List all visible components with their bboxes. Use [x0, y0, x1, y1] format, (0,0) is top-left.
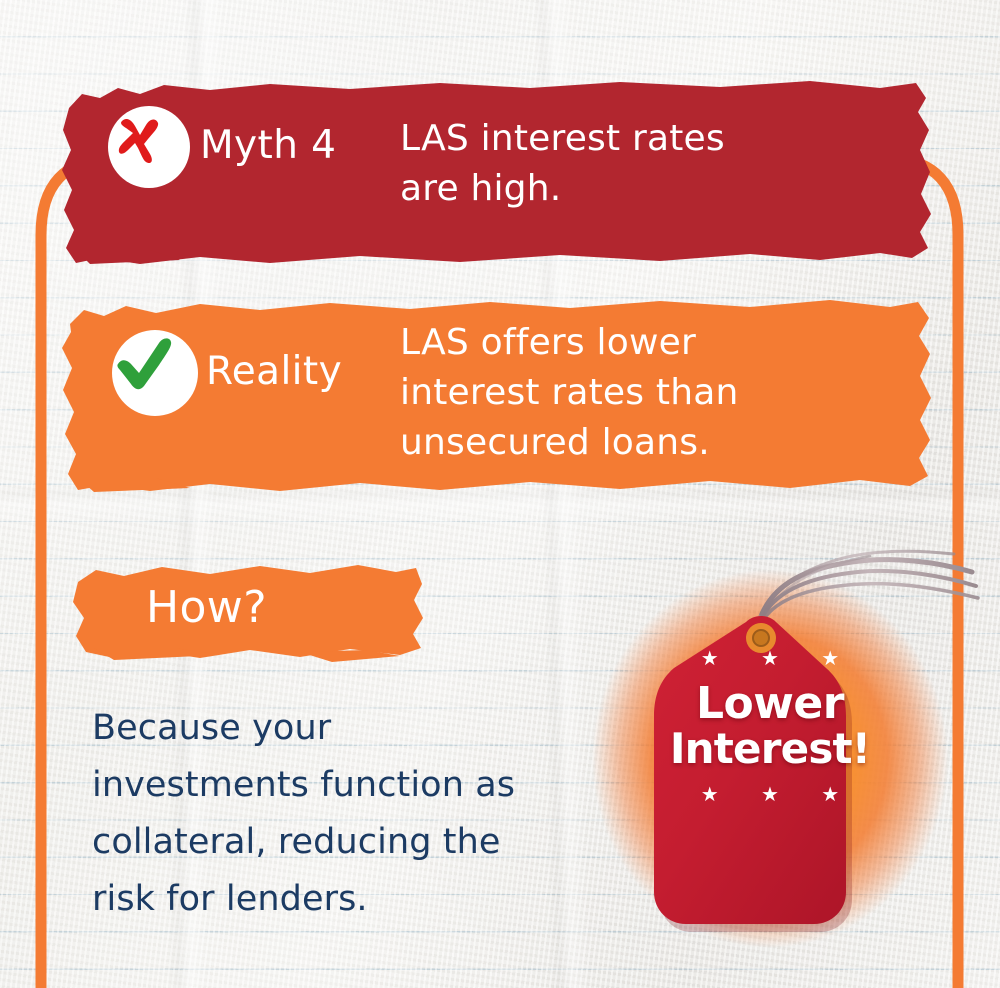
explanation-line-3: collateral, reducing the	[92, 814, 582, 871]
tag-stars-top: ★ ★ ★	[660, 646, 880, 670]
reality-line-3: unsecured loans.	[400, 422, 710, 463]
reality-line-1: LAS offers lower	[400, 322, 696, 363]
tag-label: Lower Interest!	[660, 682, 880, 770]
reality-label: Reality	[206, 348, 342, 396]
myth-label: Myth 4	[200, 122, 336, 170]
tag-string	[760, 551, 978, 616]
explanation-line-2: investments function as	[92, 757, 582, 814]
myth-banner: Myth 4 LAS interest rates are high.	[60, 72, 940, 272]
tag-label-line-2: Interest!	[660, 728, 880, 770]
tag-stars-bottom: ★ ★ ★	[660, 782, 880, 806]
myth-statement: LAS interest rates are high.	[400, 114, 880, 214]
check-mark-icon	[112, 330, 178, 396]
cross-x-icon	[108, 106, 172, 170]
explanation-line-1: Because your	[92, 700, 582, 757]
price-tag-graphic: ★ ★ ★ Lower Interest! ★ ★ ★	[540, 510, 1000, 988]
myth-badge	[108, 106, 190, 188]
reality-statement: LAS offers lower interest rates than uns…	[400, 318, 870, 468]
explanation-line-4: risk for lenders.	[92, 871, 582, 928]
how-explanation: Because your investments function as col…	[92, 700, 582, 928]
reality-line-2: interest rates than	[400, 372, 739, 413]
how-banner: How?	[70, 556, 430, 666]
myth-line-2: are high.	[400, 168, 561, 209]
infographic-canvas: Myth 4 LAS interest rates are high. Real…	[0, 0, 1000, 988]
reality-banner: Reality LAS offers lower interest rates …	[60, 292, 940, 500]
reality-badge	[112, 330, 198, 416]
myth-line-1: LAS interest rates	[400, 118, 725, 159]
how-heading: How?	[146, 580, 267, 636]
tag-label-line-1: Lower	[660, 682, 880, 726]
